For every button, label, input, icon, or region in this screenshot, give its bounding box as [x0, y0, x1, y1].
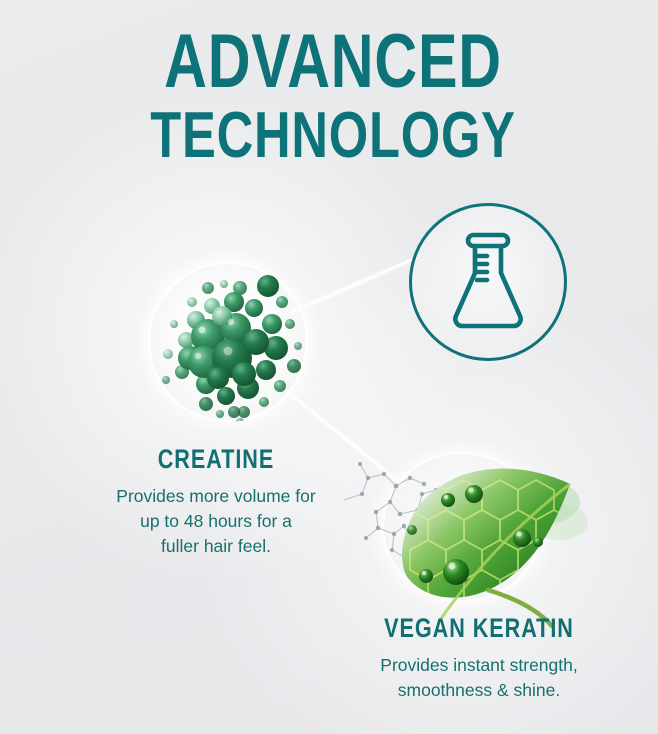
leaf-droplet — [533, 537, 543, 547]
leaf-droplet — [419, 569, 433, 583]
caption-creatine-line-3: fuller hair feel. — [161, 536, 271, 556]
vegan-keratin-node — [382, 452, 542, 602]
caption-keratin-title: VEGAN KERATIN — [350, 613, 608, 644]
lab-flask-node — [409, 203, 567, 361]
caption-creatine: CREATINE Provides more volume for up to … — [62, 444, 370, 559]
title-line-1: ADVANCED — [80, 26, 587, 98]
bubble-cluster-icon — [148, 262, 308, 422]
leaf-droplet — [407, 525, 417, 535]
leaf-droplet — [513, 529, 531, 547]
caption-creatine-line-2: up to 48 hours for a — [140, 511, 292, 531]
creatine-node — [148, 262, 308, 422]
caption-vegan-keratin: VEGAN KERATIN Provides instant strength,… — [318, 613, 640, 703]
caption-creatine-title: CREATINE — [93, 444, 339, 475]
green-leaf-icon — [338, 438, 588, 628]
caption-keratin-body: Provides instant strength, smoothness & … — [318, 653, 640, 703]
leaf-droplet — [443, 559, 469, 585]
caption-creatine-body: Provides more volume for up to 48 hours … — [62, 484, 370, 559]
caption-keratin-line-1: Provides instant strength, — [380, 655, 577, 675]
leaf-droplet — [465, 485, 483, 503]
caption-creatine-line-1: Provides more volume for — [116, 486, 315, 506]
lab-flask-icon — [447, 230, 529, 334]
advanced-technology-infographic: ADVANCED TECHNOLOGY — [0, 0, 658, 734]
caption-keratin-line-2: smoothness & shine. — [398, 680, 560, 700]
page-title: ADVANCED TECHNOLOGY — [0, 26, 658, 166]
leaf-droplet — [441, 493, 455, 507]
title-line-2: TECHNOLOGY — [80, 104, 587, 166]
